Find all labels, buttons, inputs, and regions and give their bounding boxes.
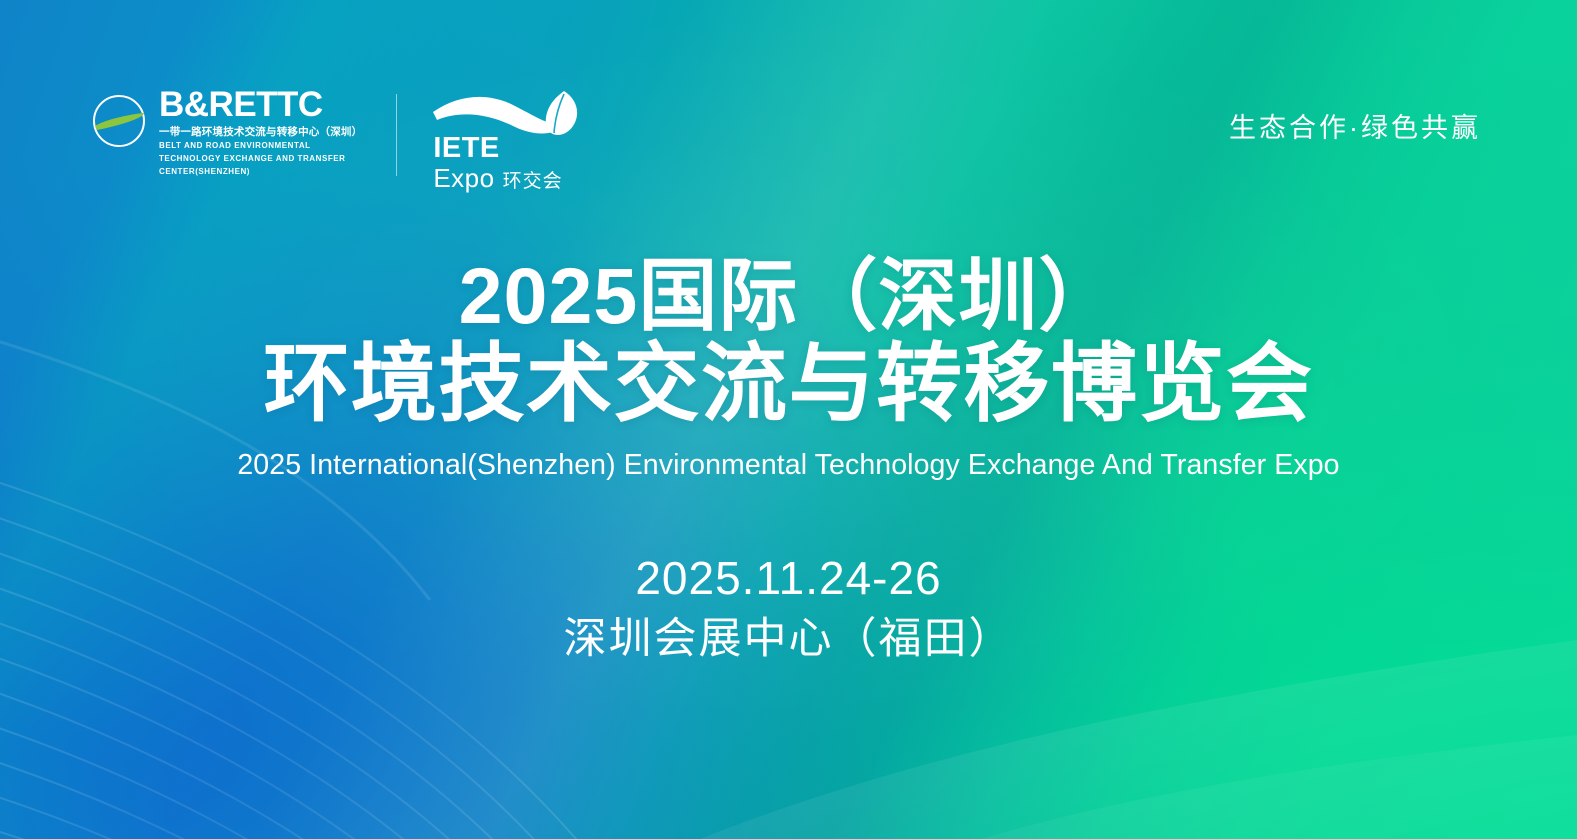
banner-header: B&RETTC 一带一路环境技术交流与转移中心（深圳） BELT AND ROA… — [0, 0, 1577, 210]
logo-brettc-name-en-2: TECHNOLOGY EXCHANGE AND TRANSFER — [159, 154, 362, 165]
event-subtitle-en: 2025 International(Shenzhen) Environment… — [237, 448, 1339, 482]
header-tagline: 生态合作·绿色共赢 — [1229, 106, 1481, 145]
logo-brettc-text: B&RETTC 一带一路环境技术交流与转移中心（深圳） BELT AND ROA… — [159, 88, 362, 177]
logo-divider — [396, 94, 397, 176]
event-date: 2025.11.24-26 — [635, 553, 941, 604]
logo-group: B&RETTC 一带一路环境技术交流与转移中心（深圳） BELT AND ROA… — [88, 88, 587, 190]
banner-main: 2025国际（深圳） 环境技术交流与转移博览会 2025 Internation… — [0, 255, 1577, 665]
logo-iete: IETE Expo 环交会 — [431, 88, 587, 190]
logo-iete-acronym: IETE — [433, 134, 562, 163]
logo-brettc: B&RETTC 一带一路环境技术交流与转移中心（深圳） BELT AND ROA… — [88, 88, 362, 177]
logo-brettc-name-cn: 一带一路环境技术交流与转移中心（深圳） — [159, 125, 362, 139]
logo-iete-subline: Expo 环交会 — [433, 165, 562, 191]
logo-iete-text: IETE Expo 环交会 — [433, 134, 562, 191]
event-venue: 深圳会展中心（福田） — [564, 615, 1014, 664]
event-title-line-2: 环境技术交流与转移博览会 — [264, 339, 1314, 430]
logo-brettc-wordmark: B&RETTC — [159, 88, 362, 122]
logo-iete-expo-word: Expo — [433, 165, 494, 191]
event-title-line-1: 2025国际（深圳） — [459, 255, 1119, 337]
circle-band-logo-icon — [88, 92, 150, 150]
logo-iete-name-cn: 环交会 — [503, 172, 563, 191]
event-banner: B&RETTC 一带一路环境技术交流与转移中心（深圳） BELT AND ROA… — [0, 0, 1577, 839]
logo-brettc-name-en-3: CENTER(SHENZHEN) — [159, 167, 362, 178]
logo-brettc-name-en-1: BELT AND ROAD ENVIRONMENTAL — [159, 141, 362, 152]
